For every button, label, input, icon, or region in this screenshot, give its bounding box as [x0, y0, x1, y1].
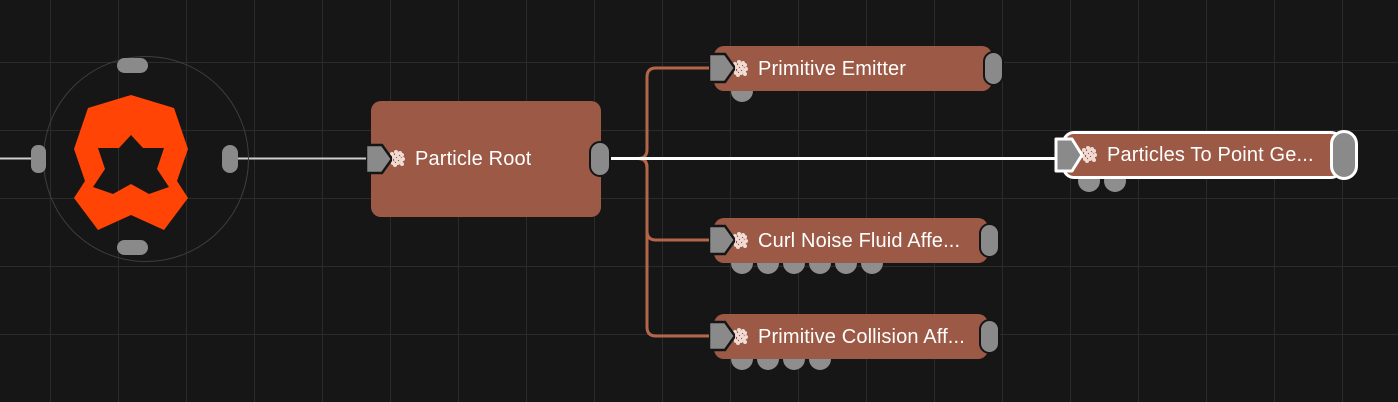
- primitive-emitter-input-port[interactable]: [709, 52, 735, 84]
- wire-particle-root-to-curl-noise: [601, 159, 716, 241]
- wire-particle-root-to-emitter: [601, 68, 716, 159]
- primitive-collision-output-port[interactable]: [979, 319, 1000, 354]
- node-curl-noise-fluid-affector[interactable]: Curl Noise Fluid Affe...: [714, 218, 988, 263]
- wire-particle-root-to-collision: [601, 159, 716, 337]
- node-particles-to-point-geo[interactable]: Particles To Point Ge...: [1062, 131, 1343, 179]
- primitive-emitter-output-port[interactable]: [983, 51, 1004, 86]
- node-particle-root[interactable]: Particle Root: [371, 101, 601, 217]
- primitive-collision-input-port[interactable]: [709, 320, 735, 352]
- curl-noise-output-port[interactable]: [979, 223, 1000, 258]
- node-label: Particles To Point Ge...: [1107, 145, 1314, 165]
- particles-to-point-geo-output-port-ring: [1330, 130, 1358, 180]
- curl-noise-input-port[interactable]: [709, 224, 735, 256]
- root-bottom-port[interactable]: [117, 240, 148, 255]
- node-primitive-collision-affector[interactable]: Primitive Collision Aff...: [714, 314, 988, 359]
- node-label: Primitive Emitter: [758, 59, 906, 79]
- star-pentagon-icon: [64, 95, 198, 230]
- node-graph-canvas[interactable]: Particle Root Primitive Emitter Curl Noi…: [0, 0, 1398, 402]
- root-left-input-port[interactable]: [31, 145, 46, 173]
- node-label: Primitive Collision Aff...: [758, 327, 965, 347]
- root-top-port[interactable]: [117, 58, 148, 73]
- particle-root-input-port[interactable]: [366, 143, 392, 175]
- root-right-output-port[interactable]: [222, 145, 238, 173]
- node-label: Particle Root: [415, 149, 531, 169]
- particles-to-point-geo-input-port[interactable]: [1053, 134, 1085, 176]
- particle-root-output-port[interactable]: [589, 141, 611, 177]
- node-label: Curl Noise Fluid Affe...: [758, 231, 960, 251]
- node-primitive-emitter[interactable]: Primitive Emitter: [714, 46, 992, 91]
